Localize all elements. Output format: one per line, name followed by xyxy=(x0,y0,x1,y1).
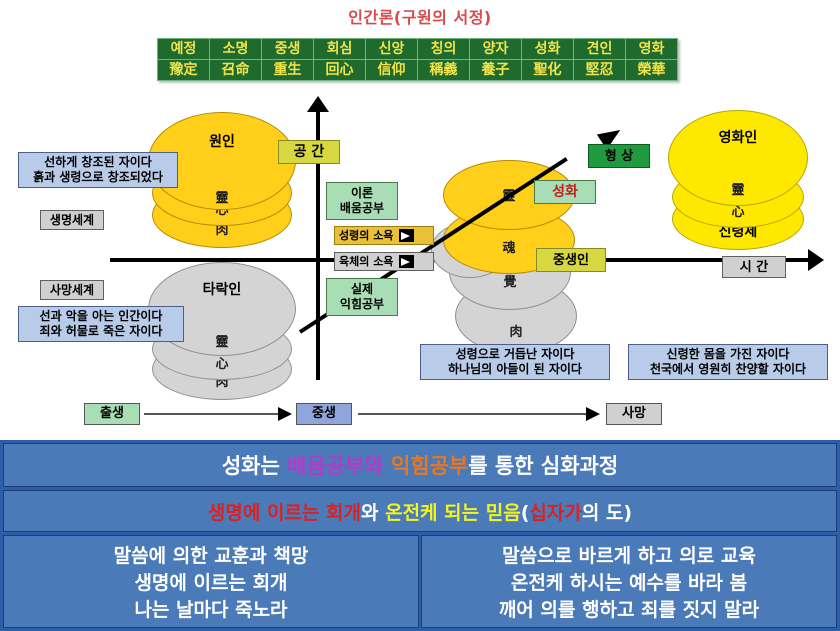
banner-left-panel: 말씀에 의한 교훈과 책망 생명에 이르는 회개 나는 날마다 죽노라 xyxy=(3,535,419,628)
theory-study-box: 이론 배움공부 xyxy=(326,182,398,220)
left-panel-line-0: 말씀에 의한 교훈과 책망 xyxy=(4,543,418,570)
spirit-desire-box: 성령의 소욕 xyxy=(334,226,434,245)
right-panel-line-2: 깨어 의를 행하고 죄를 짓지 말라 xyxy=(422,597,836,624)
right-panel-line-1: 온전케 하시는 예수를 바라 봄 xyxy=(422,570,836,597)
regenerate-tag-box: 중생인 xyxy=(536,248,606,272)
ordo-cell-ko-2: 중생 xyxy=(262,39,314,60)
regenerate-man-description: 성령으로 거듭난 자이다 하나님의 아들이 된 자이다 xyxy=(420,344,610,380)
b1-run-2: 익힘공부 xyxy=(391,454,468,478)
b2-run-4: 십자가 xyxy=(529,502,581,524)
timeline-arrow-2-icon xyxy=(586,407,600,421)
b2-run-2: 온전케 되는 믿음 xyxy=(385,502,521,524)
timeline-birth: 출생 xyxy=(84,403,140,425)
ordo-cell-ko-6: 양자 xyxy=(470,39,522,60)
banner-right-panel: 말씀으로 바르게 하고 의로 교육 온전케 하시는 예수를 바라 봄 깨어 의를… xyxy=(421,535,837,628)
ordo-salutis-table: 예정 소명 중생 회심 신앙 칭의 양자 성화 견인 영화 豫定 召命 重生 回… xyxy=(157,38,678,81)
practice-study-box: 실제 익힘공부 xyxy=(326,278,398,316)
summary-banner: 성화는 배움공부와 익힘공부를 통한 심화과정 생명에 이르는 회개와 온전케 … xyxy=(0,440,840,631)
flesh-desire-arrow-icon xyxy=(399,255,414,268)
ordo-cell-ko-1: 소명 xyxy=(210,39,262,60)
b1-run-0: 성화는 xyxy=(222,454,287,478)
ordo-cell-hj-7: 聖化 xyxy=(522,60,574,81)
ordo-cell-ko-0: 예정 xyxy=(158,39,210,60)
b2-run-1: 와 xyxy=(361,502,385,524)
ordo-cell-hj-0: 豫定 xyxy=(158,60,210,81)
diagram-canvas: 인간론(구원의 서정) 예정 소명 중생 회심 신앙 칭의 양자 성화 견인 영… xyxy=(0,0,840,631)
banner-line-2: 생명에 이르는 회개와 온전케 되는 믿음(십자가의 도) xyxy=(3,490,837,532)
space-axis-label: 공 간 xyxy=(278,140,340,164)
b2-run-5: 의 도) xyxy=(582,502,632,524)
ordo-cell-ko-8: 견인 xyxy=(574,39,626,60)
ordo-cell-hj-1: 召命 xyxy=(210,60,262,81)
fallen-man-description: 선과 악을 아는 인간이다 죄와 허물로 죽은 자이다 xyxy=(18,306,184,342)
sanctification-box: 성화 xyxy=(534,180,596,204)
life-world-label: 생명세계 xyxy=(40,210,104,230)
death-world-label: 사망세계 xyxy=(40,280,104,300)
spirit-desire-arrow-icon xyxy=(399,229,414,242)
timeline-arrow-1-icon xyxy=(278,407,292,421)
timeline-regeneration: 중생 xyxy=(296,403,352,425)
axis-right-arrow-icon xyxy=(808,249,824,271)
page-title: 인간론(구원의 서정) xyxy=(0,4,840,28)
right-panel-line-0: 말씀으로 바르게 하고 의로 교육 xyxy=(422,543,836,570)
time-axis-label: 시 간 xyxy=(722,256,786,278)
lifecycle-timeline: 출생 중생 사망 xyxy=(0,403,840,435)
ordo-cell-hj-9: 榮華 xyxy=(626,60,678,81)
ordo-row-hanja: 豫定 召命 重生 回心 信仰 稱義 養子 聖化 堅忍 榮華 xyxy=(158,60,678,81)
banner-line-1: 성화는 배움공부와 익힘공부를 통한 심화과정 xyxy=(3,443,837,487)
spirit-desire-label: 성령의 소욕 xyxy=(339,228,393,243)
flesh-desire-box: 육체의 소욕 xyxy=(334,252,434,271)
ordo-cell-hj-5: 稱義 xyxy=(418,60,470,81)
timeline-death: 사망 xyxy=(606,403,662,425)
ordo-cell-hj-4: 信仰 xyxy=(366,60,418,81)
axis-up-arrow-icon xyxy=(307,96,329,112)
ordo-cell-hj-6: 養子 xyxy=(470,60,522,81)
banner-line-2-text: 생명에 이르는 회개와 온전케 되는 믿음(십자가의 도) xyxy=(208,498,632,525)
glorified-layer-spirit: 영화인 靈 xyxy=(668,110,808,206)
ordo-cell-hj-8: 堅忍 xyxy=(574,60,626,81)
ordo-cell-ko-4: 신앙 xyxy=(366,39,418,60)
b1-run-1: 배움공부와 xyxy=(287,454,391,478)
ordo-cell-ko-7: 성화 xyxy=(522,39,574,60)
image-box: 형 상 xyxy=(588,144,650,168)
b1-run-3: 를 통한 심화과정 xyxy=(468,454,618,478)
ordo-cell-ko-5: 칭의 xyxy=(418,39,470,60)
ordo-row-korean: 예정 소명 중생 회심 신앙 칭의 양자 성화 견인 영화 xyxy=(158,39,678,60)
left-panel-line-1: 생명에 이르는 회개 xyxy=(4,570,418,597)
banner-line-1-text: 성화는 배움공부와 익힘공부를 통한 심화과정 xyxy=(222,450,618,480)
left-panel-line-2: 나는 날마다 죽노라 xyxy=(4,597,418,624)
ordo-cell-ko-9: 영화 xyxy=(626,39,678,60)
flesh-desire-label: 육체의 소욕 xyxy=(339,254,393,269)
timeline-line-2 xyxy=(358,413,590,415)
ordo-cell-hj-3: 回心 xyxy=(314,60,366,81)
timeline-line-1 xyxy=(144,413,284,415)
original-man-description: 선하게 창조된 자이다 흙과 생령으로 창조되었다 xyxy=(18,152,178,188)
ordo-cell-ko-3: 회심 xyxy=(314,39,366,60)
b2-run-0: 생명에 이르는 회개 xyxy=(208,502,361,524)
glorified-man-description: 신령한 몸을 가진 자이다 천국에서 영원히 찬양할 자이다 xyxy=(628,344,828,380)
ordo-cell-hj-2: 重生 xyxy=(262,60,314,81)
